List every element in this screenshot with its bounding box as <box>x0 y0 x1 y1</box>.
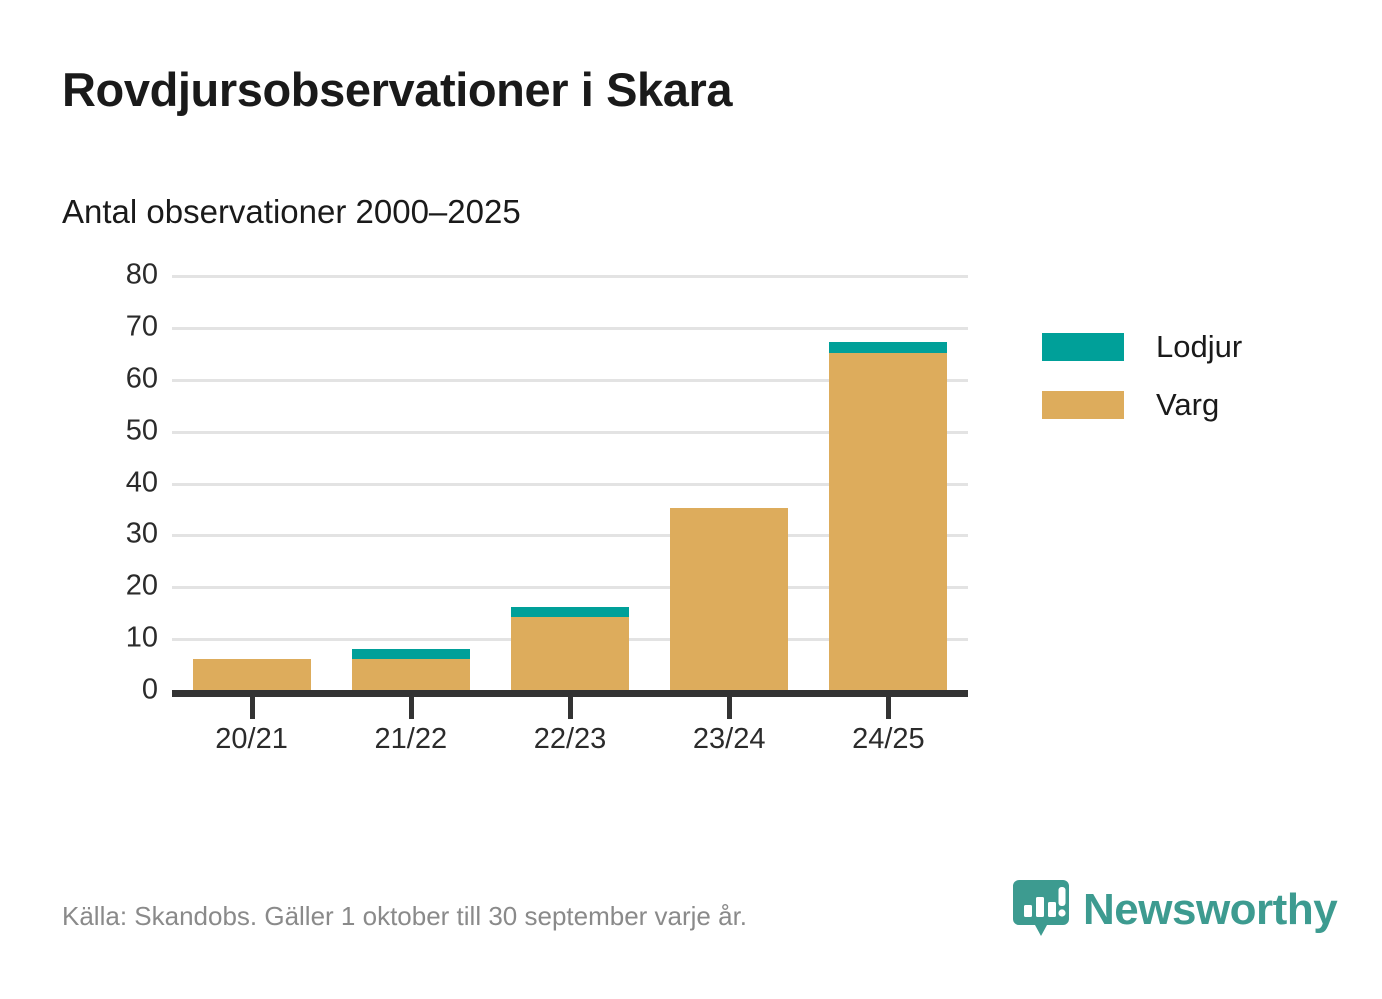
x-tick-label: 23/24 <box>693 723 766 756</box>
x-axis-line <box>172 690 968 697</box>
chart-legend: LodjurVarg <box>1042 318 1342 434</box>
newsworthy-wordmark: Newsworthy <box>1083 888 1337 932</box>
x-axis-tick <box>409 697 414 719</box>
source-note: Källa: Skandobs. Gäller 1 oktober till 3… <box>62 901 747 932</box>
legend-swatch <box>1042 333 1124 361</box>
legend-label: Lodjur <box>1156 329 1242 365</box>
x-tick-label: 21/22 <box>375 723 448 756</box>
chart-page: Rovdjursobservationer i Skara Antal obse… <box>0 0 1382 999</box>
newsworthy-bubble-bars-icon <box>1013 878 1069 942</box>
bar-segment-lodjur <box>352 649 470 659</box>
legend-label: Varg <box>1156 387 1219 423</box>
y-tick-label: 20 <box>126 572 158 601</box>
y-tick-label: 50 <box>126 416 158 445</box>
y-tick-label: 70 <box>126 312 158 341</box>
x-tick-label: 22/23 <box>534 723 607 756</box>
bar-segment-varg <box>829 353 947 690</box>
bar-stack <box>670 508 788 690</box>
x-axis-tick <box>727 697 732 719</box>
x-tick-label: 20/21 <box>215 723 288 756</box>
legend-item[interactable]: Lodjur <box>1042 318 1342 376</box>
y-tick-label: 30 <box>126 520 158 549</box>
y-tick-label: 60 <box>126 364 158 393</box>
legend-swatch <box>1042 391 1124 419</box>
bar-segment-varg <box>511 617 629 690</box>
x-axis-tick <box>250 697 255 719</box>
bar-stack <box>352 649 470 691</box>
x-tick-label: 24/25 <box>852 723 925 756</box>
y-tick-label: 0 <box>142 676 158 705</box>
bar-series-group <box>172 275 968 690</box>
bar-segment-lodjur <box>511 607 629 617</box>
bar-stack <box>511 607 629 690</box>
bar-segment-varg <box>670 508 788 690</box>
y-tick-label: 10 <box>126 624 158 653</box>
bar-segment-varg <box>193 659 311 690</box>
bar-stack <box>829 342 947 690</box>
newsworthy-logo: Newsworthy <box>1013 878 1337 942</box>
bar-segment-lodjur <box>829 342 947 352</box>
y-axis-tick-labels: 01020304050607080 <box>100 275 158 697</box>
x-axis-tick <box>886 697 891 719</box>
y-tick-label: 80 <box>126 261 158 290</box>
x-axis-tick <box>568 697 573 719</box>
bar-segment-varg <box>352 659 470 690</box>
bar-stack <box>193 659 311 690</box>
bar-chart: 01020304050607080 20/2121/2222/2323/2424… <box>0 0 1382 999</box>
y-tick-label: 40 <box>126 468 158 497</box>
legend-item[interactable]: Varg <box>1042 376 1342 434</box>
